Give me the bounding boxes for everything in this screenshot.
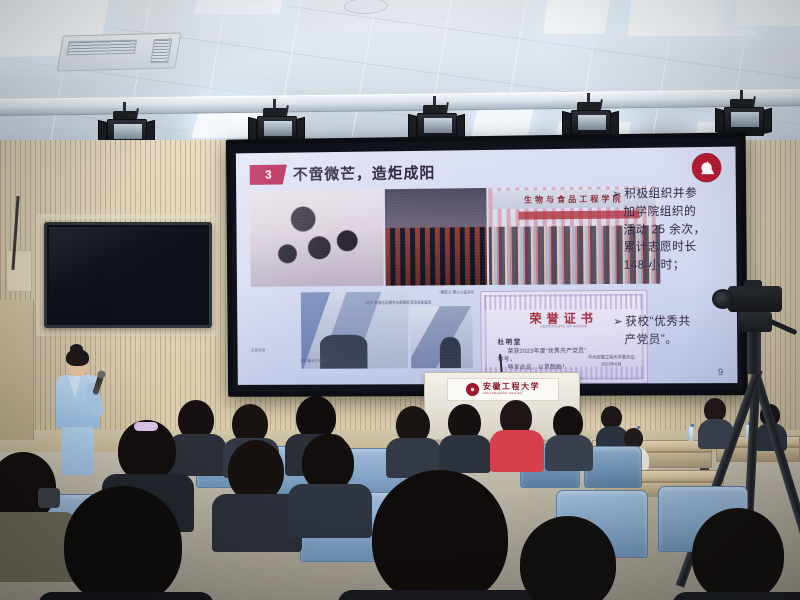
podium-nameplate: 安徽工程大学 Anhui Polytechnic University: [447, 378, 559, 401]
presenter: [48, 345, 110, 475]
certificate-recipient-name: 杜明堂: [498, 336, 522, 346]
wall-mounted-display: [44, 222, 212, 328]
camera-lens-icon: [712, 289, 734, 309]
presenter-hair-bun: [70, 344, 83, 354]
face-mask: [38, 488, 60, 508]
podium-institution-en: Anhui Polytechnic University: [483, 393, 523, 396]
wall-control-panel: [6, 250, 32, 292]
certificate-line-3: 特发此证，以资鼓励！: [508, 363, 568, 371]
bullet-arrow-icon: ➢: [613, 316, 623, 328]
side-door: [0, 300, 34, 440]
presenter-skirt: [61, 427, 94, 475]
hair-clip: [134, 422, 158, 431]
ceiling-panel-light: [735, 0, 800, 26]
water-bottle: [688, 426, 694, 441]
slide-photo-volunteer-children: [250, 189, 384, 287]
certificate-ornament-top: [484, 294, 643, 310]
bullet-line: 活动 25 余次，: [612, 221, 726, 240]
lecture-hall-photo: 3 不啻微芒，造炬成阳 生物与食品工程学院 志愿活动· 社区暖冬行动纪实 “暖童…: [0, 0, 800, 600]
air-conditioner-vent-icon: [57, 32, 182, 71]
slide-photo-team-orange-uniform: [385, 188, 487, 286]
photo-caption: 2023 年度社区暖冬志愿服务活动合影留念: [365, 300, 476, 306]
certificate-signature-date: 2023年6月: [588, 360, 635, 367]
certificate-signature: 中共安徽工程大学委员会 2023年6月: [588, 353, 635, 368]
slide-bullet-2: ➢获校“优秀共 产党员”。: [613, 313, 727, 350]
ceiling-panel-light: [543, 0, 611, 34]
camera-viewfinder: [744, 280, 762, 289]
university-emblem-icon: [692, 153, 722, 183]
bullet-line: 累计志愿时长: [612, 239, 726, 258]
tripod-column: [747, 330, 761, 374]
photo-caption: 志愿活动·: [251, 348, 296, 353]
certificate-line-1: 荣获2023年度“优秀共产党员”: [508, 346, 587, 354]
bullet-line: 获校“优秀共: [625, 316, 690, 329]
photo-caption: 社区暖冬行动纪实: [300, 359, 359, 364]
bullet-line: 148 小时；: [613, 257, 727, 276]
certificate-signature-org: 中共安徽工程大学委员会: [588, 353, 635, 360]
slide-bullet-1: ➢积极组织并参 加学院组织的 活动 25 余次， 累计志愿时长 148 小时；: [612, 185, 726, 276]
bullet-arrow-icon: ➢: [612, 188, 622, 200]
ceiling-panel-light: [194, 0, 284, 14]
slide-section-badge: 3: [250, 165, 287, 185]
slide-photo-indoor-desk: [411, 306, 473, 368]
projection-screen: 3 不啻微芒，造炬成阳 生物与食品工程学院 志愿活动· 社区暖冬行动纪实 “暖童…: [226, 132, 748, 397]
podium-institution: 安徽工程大学 Anhui Polytechnic University: [483, 383, 540, 395]
tripod-head: [738, 312, 772, 332]
university-seal-icon: [466, 383, 479, 396]
podium-institution-cn: 安徽工程大学: [483, 383, 540, 391]
bullet-line: 产党员”。: [613, 331, 727, 350]
dslr-camera-icon: [728, 286, 782, 312]
bullet-line: 积极组织并参: [624, 187, 697, 200]
photo-caption: “暖童心”爱心公益活动: [422, 290, 474, 295]
bullet-line: 加学院组织的: [612, 203, 726, 222]
presentation-slide: 3 不啻微芒，造炬成阳 生物与食品工程学院 志愿活动· 社区暖冬行动纪实 “暖童…: [236, 147, 738, 385]
slide-title: 不啻微芒，造炬成阳: [293, 162, 436, 185]
